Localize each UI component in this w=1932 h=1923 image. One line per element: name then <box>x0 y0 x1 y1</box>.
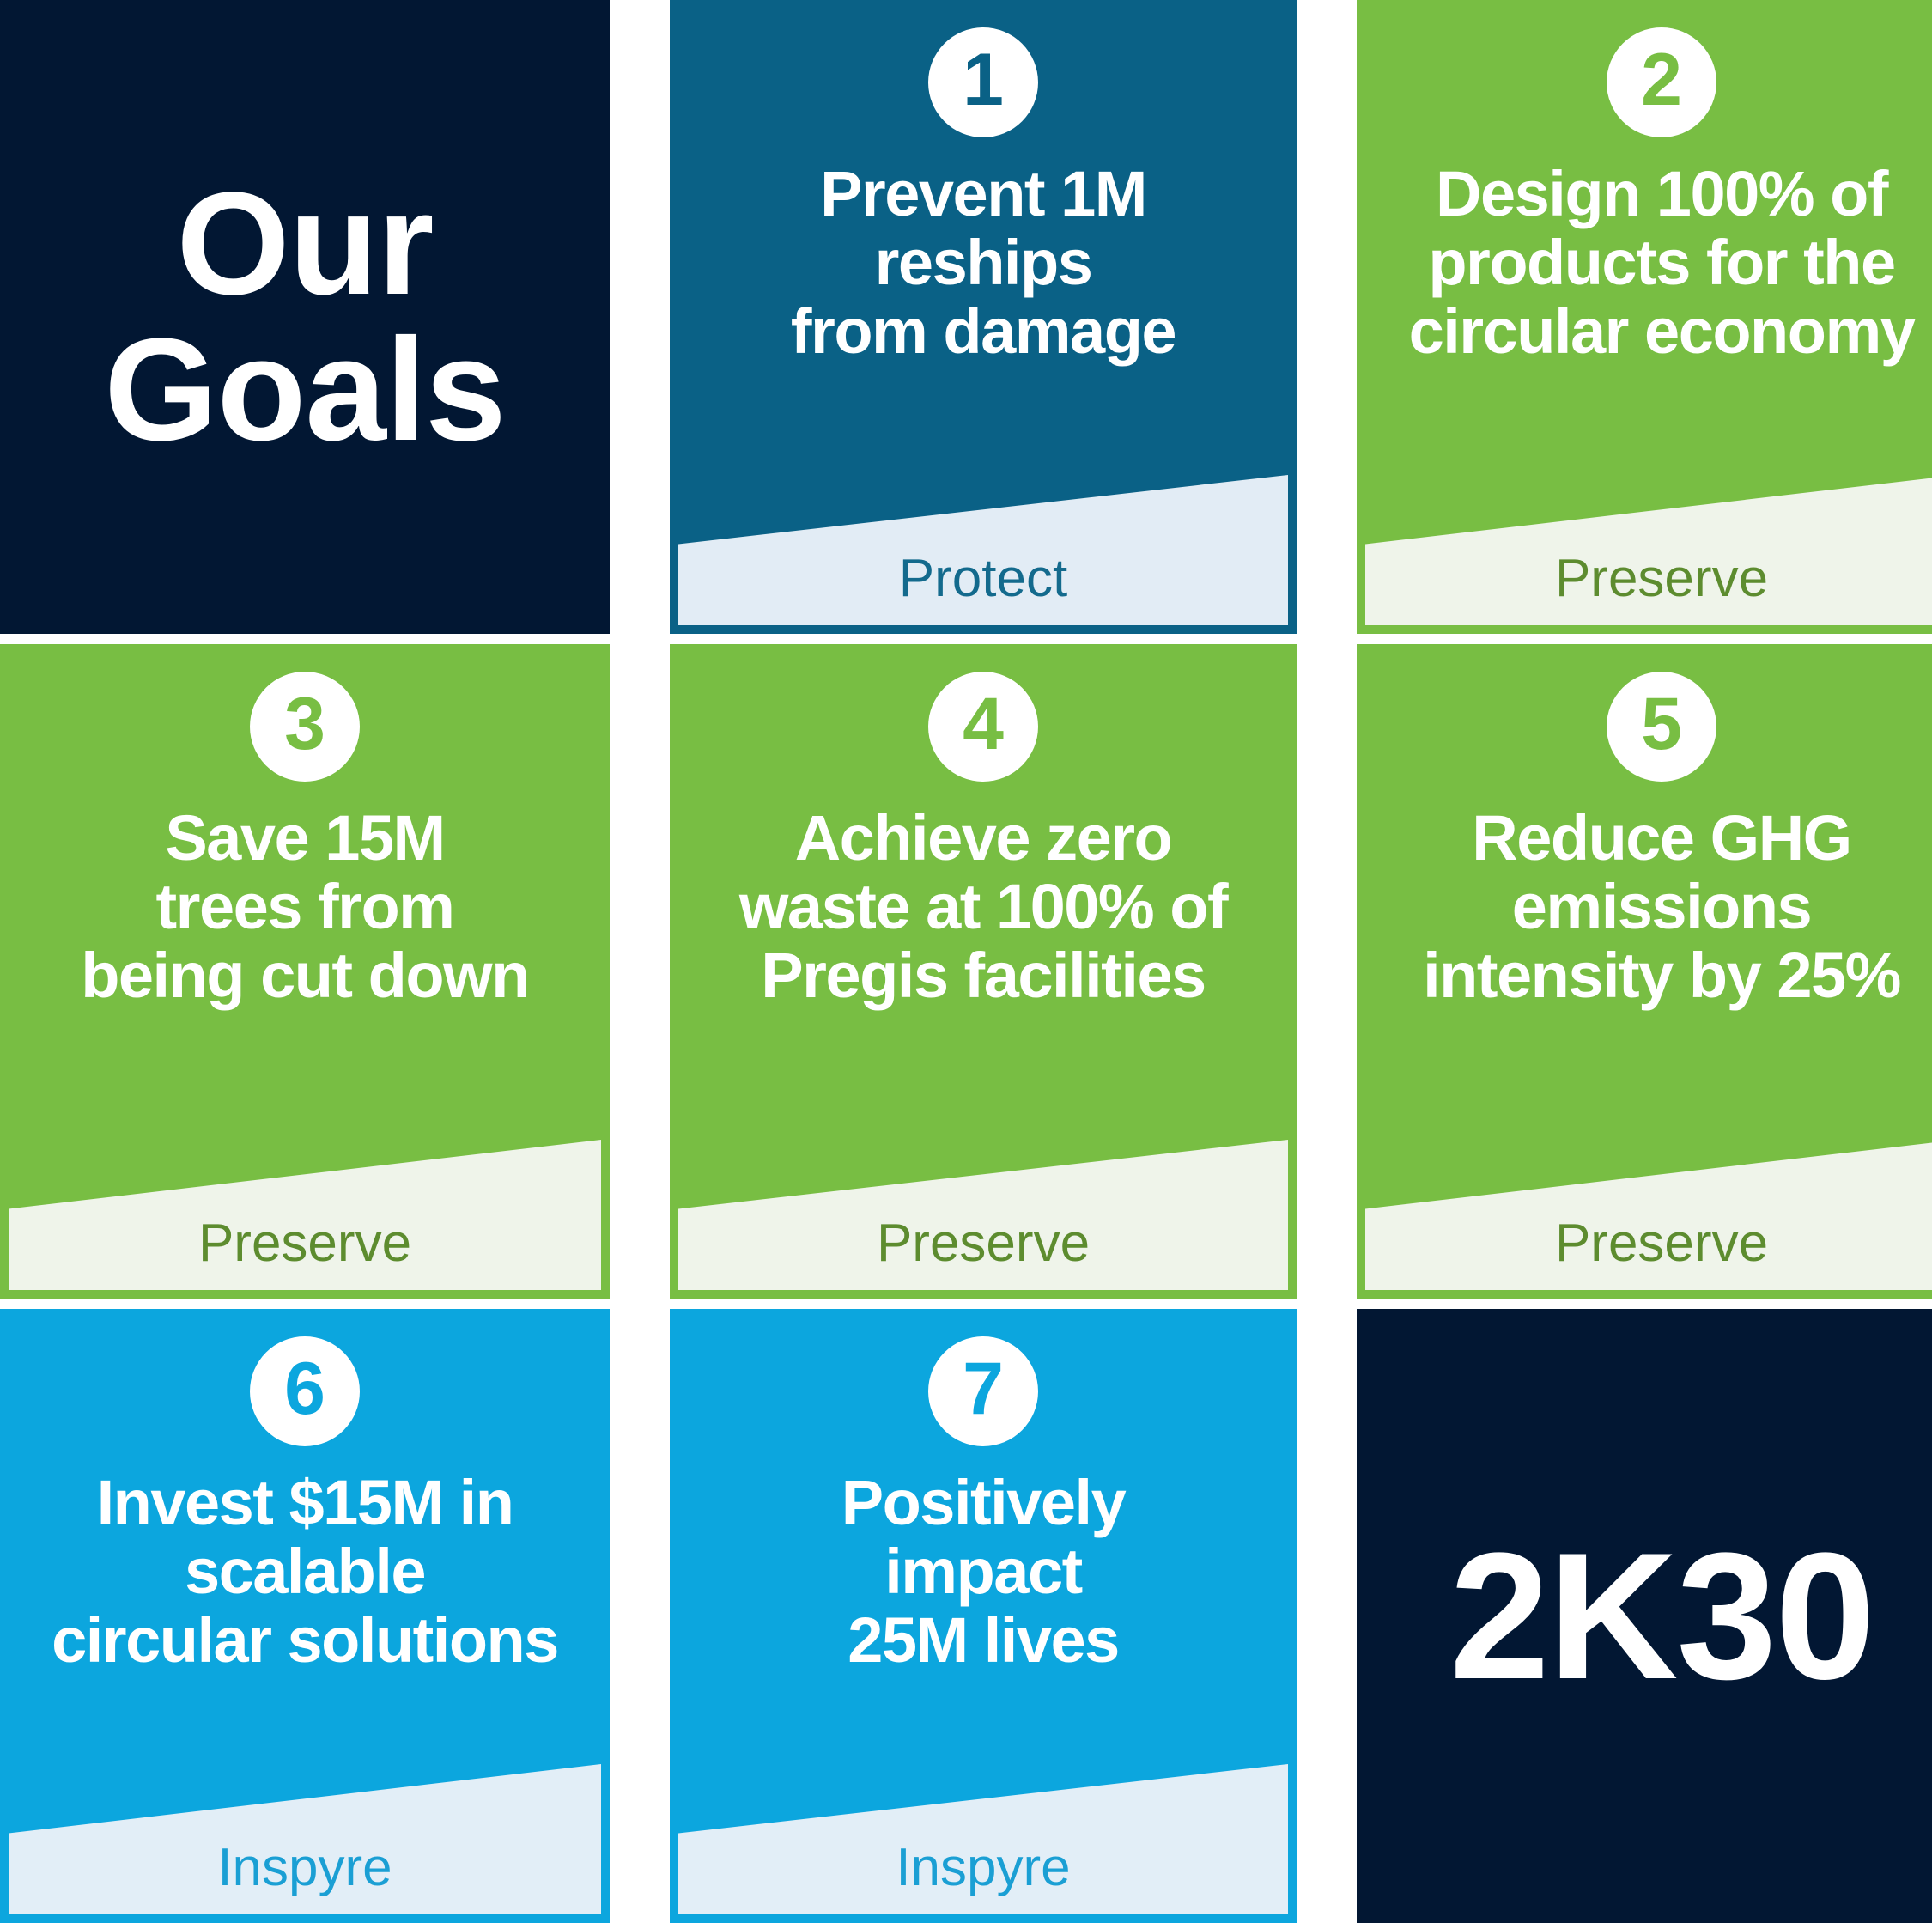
pillar-label-3: Preserve <box>0 1196 610 1290</box>
goal-number-badge-5: 5 <box>1607 672 1716 782</box>
our-goals-title-card: Our Goals <box>0 0 610 634</box>
goal-text-5: Reduce GHG emissions intensity by 25% <box>1414 804 1909 1010</box>
goal-number-badge-1: 1 <box>928 27 1038 137</box>
goal-number-3: 3 <box>284 687 325 761</box>
pillar-label-4: Preserve <box>670 1196 1297 1290</box>
year-2k30-card: 2K30 <box>1357 1309 1932 1923</box>
goal-card-6[interactable]: 6 Invest $15M in scalable circular solut… <box>0 1309 610 1923</box>
goal-card-3[interactable]: 3 Save 15M trees from being cut down Pre… <box>0 644 610 1299</box>
goal-text-2: Design 100% of products for the circular… <box>1400 160 1923 366</box>
goal-number-6: 6 <box>284 1352 325 1426</box>
page-title: Our Goals <box>0 171 610 463</box>
pillar-label-1: Protect <box>670 531 1297 625</box>
goal-text-4: Achieve zero waste at 100% of Pregis fac… <box>731 804 1236 1010</box>
goal-number-7: 7 <box>963 1352 1004 1426</box>
goal-card-4[interactable]: 4 Achieve zero waste at 100% of Pregis f… <box>670 644 1297 1299</box>
pillar-label-7: Inspyre <box>670 1820 1297 1914</box>
goal-number-4: 4 <box>963 687 1004 761</box>
year-label: 2K30 <box>1449 1526 1874 1707</box>
goal-number-badge-4: 4 <box>928 672 1038 782</box>
goal-card-1[interactable]: 1 Prevent 1M reships from damage Protect <box>670 0 1297 634</box>
goal-number-badge-3: 3 <box>250 672 360 782</box>
goal-card-2[interactable]: 2 Design 100% of products for the circul… <box>1357 0 1932 634</box>
goal-number-badge-7: 7 <box>928 1336 1038 1446</box>
pillar-label-5: Preserve <box>1357 1196 1932 1290</box>
pillar-label-2: Preserve <box>1357 531 1932 625</box>
goals-grid: Our Goals 1 Prevent 1M reships from dama… <box>0 0 1932 1902</box>
goal-text-3: Save 15M trees from being cut down <box>72 804 538 1010</box>
goal-card-5[interactable]: 5 Reduce GHG emissions intensity by 25% … <box>1357 644 1932 1299</box>
goal-number-2: 2 <box>1641 43 1682 117</box>
goal-text-7: Positively impact 25M lives <box>833 1469 1134 1675</box>
goal-number-1: 1 <box>963 43 1004 117</box>
goal-text-6: Invest $15M in scalable circular solutio… <box>43 1469 567 1675</box>
goal-number-badge-2: 2 <box>1607 27 1716 137</box>
goal-text-1: Prevent 1M reships from damage <box>782 160 1184 366</box>
goal-number-badge-6: 6 <box>250 1336 360 1446</box>
pillar-label-6: Inspyre <box>0 1820 610 1914</box>
goal-card-7[interactable]: 7 Positively impact 25M lives Inspyre <box>670 1309 1297 1923</box>
goal-number-5: 5 <box>1641 687 1682 761</box>
